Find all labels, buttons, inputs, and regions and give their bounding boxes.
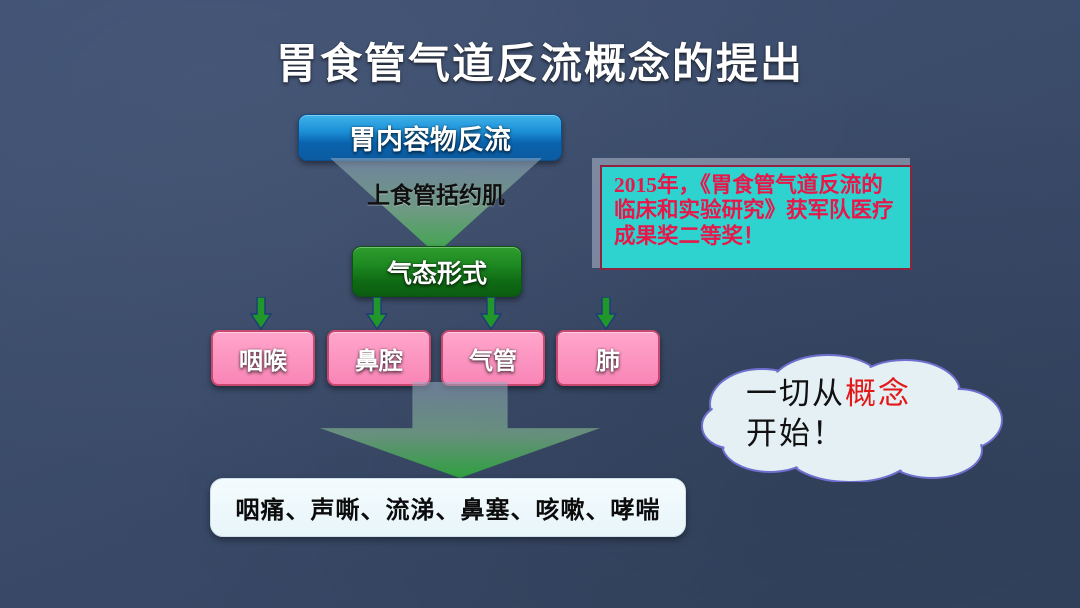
cloud-text-part2: 开始！ <box>746 416 845 451</box>
down-arrow-icon-4 <box>595 297 617 330</box>
connector-label-ues: 上食管括约肌 <box>330 176 542 210</box>
cloud-text-part1: 一切从 <box>746 376 845 411</box>
flow-node-lung[interactable]: 肺 <box>556 330 660 386</box>
cloud-text-highlight: 概念 <box>845 376 911 411</box>
flow-node-nasal-cavity[interactable]: 鼻腔 <box>327 330 431 386</box>
cloud-callout: 一切从概念 开始！ <box>700 352 1005 482</box>
arrow-block-down <box>320 382 600 478</box>
cloud-callout-text: 一切从概念 开始！ <box>746 374 976 453</box>
flow-node-throat[interactable]: 咽喉 <box>211 330 315 386</box>
flow-node-symptoms[interactable]: 咽痛、声嘶、流涕、鼻塞、咳嗽、哮喘 <box>210 478 686 537</box>
award-callout: 2015年，《胃食管气道反流的临床和实验研究》获军队医疗成果奖二等奖！ <box>600 165 912 270</box>
flow-node-gaseous-form[interactable]: 气态形式 <box>352 246 522 297</box>
flow-node-trachea[interactable]: 气管 <box>441 330 545 386</box>
down-arrow-icon-3 <box>480 297 502 330</box>
slide-canvas: 胃食管气道反流概念的提出 胃内容物反流 上食管括约肌 气态形式 咽喉 鼻腔 气管… <box>0 0 1080 608</box>
down-arrow-icon-2 <box>366 297 388 330</box>
down-arrow-icon-1 <box>250 297 272 330</box>
page-title: 胃食管气道反流概念的提出 <box>0 30 1080 91</box>
flow-node-gastric-reflux[interactable]: 胃内容物反流 <box>298 114 562 161</box>
